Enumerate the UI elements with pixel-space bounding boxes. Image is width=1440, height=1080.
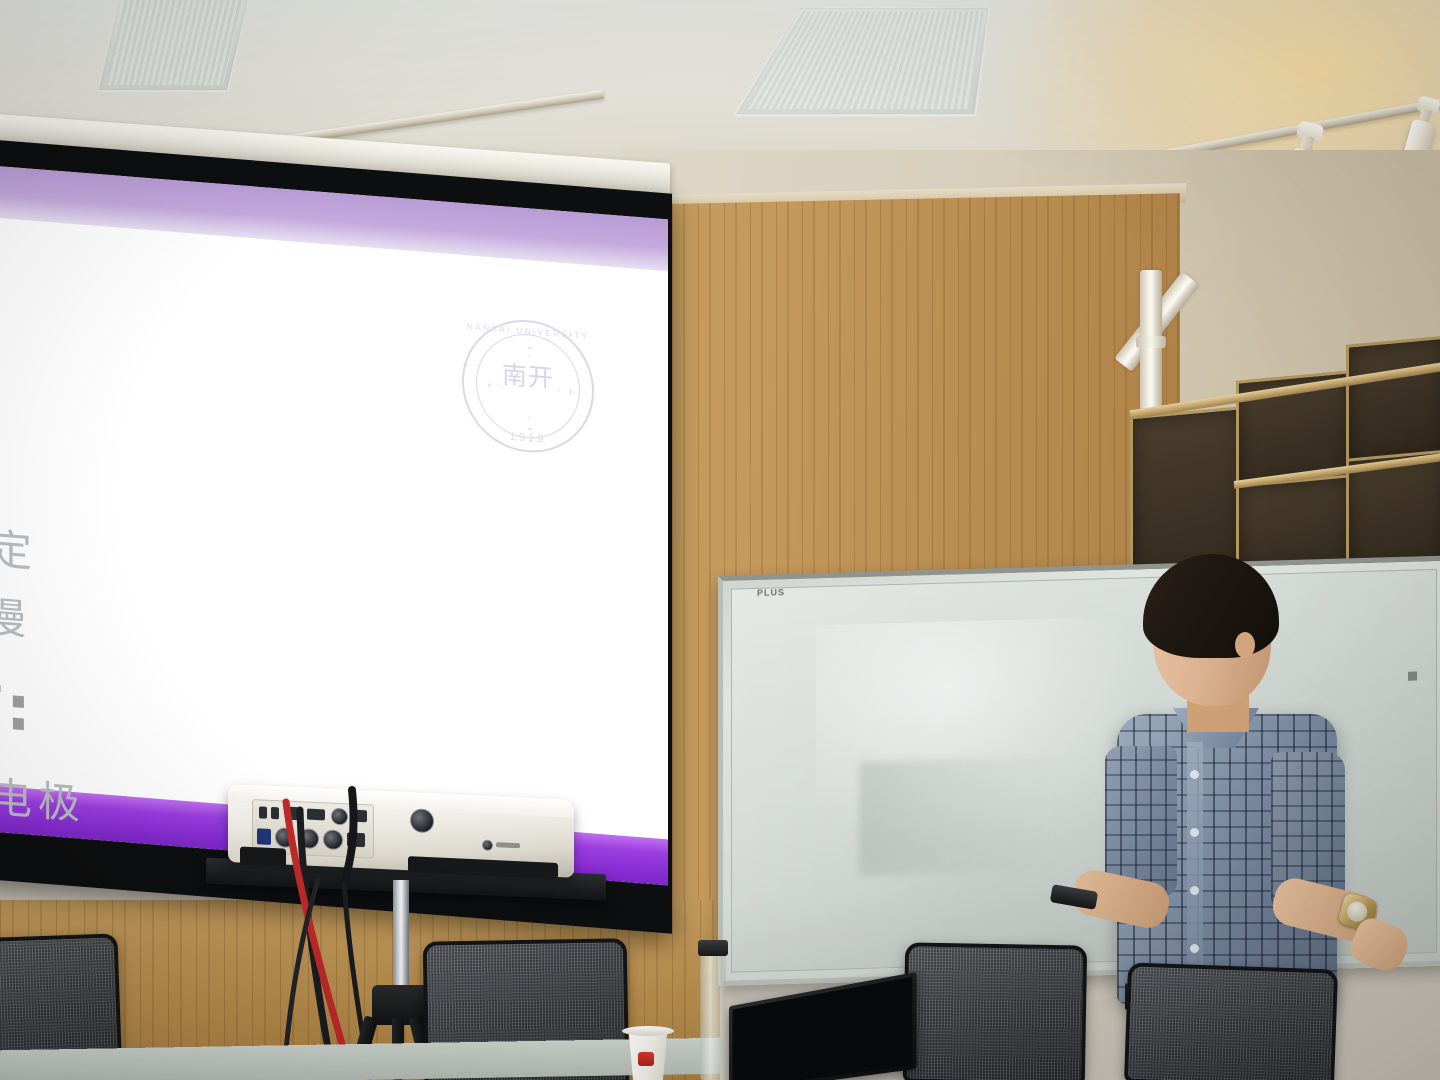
cup-rim xyxy=(622,1026,674,1036)
cup-logo-icon xyxy=(638,1052,654,1066)
presenter-hair xyxy=(1143,554,1279,658)
slide-line-1: 稳定 xyxy=(0,512,38,581)
water-bottle[interactable] xyxy=(700,948,726,1080)
slide-heading: 作: xyxy=(0,651,35,749)
shelf-compartment xyxy=(1346,335,1440,466)
pipe-joint xyxy=(1136,336,1166,348)
presenter-placket xyxy=(1187,742,1203,992)
laptop[interactable] xyxy=(729,972,917,1080)
presenter-ear xyxy=(1235,632,1255,658)
whiteboard-brand-label: PLUS xyxy=(757,587,785,598)
ceiling-vent-icon xyxy=(96,0,251,92)
slide-line-2: 度慢 xyxy=(0,579,32,648)
slide-body xyxy=(0,216,668,839)
office-chair[interactable] xyxy=(903,942,1087,1080)
bottle-cap xyxy=(698,940,728,956)
whiteboard-mark xyxy=(1408,671,1417,680)
nankai-university-logo-icon: NANKAI UNIVERSITY 南开 1919 xyxy=(462,315,594,458)
office-chair[interactable] xyxy=(1124,962,1338,1080)
classroom-photo: NANKAI UNIVERSITY 南开 1919 稳定 度慢 作: 和电极 刂… xyxy=(0,0,1440,1080)
